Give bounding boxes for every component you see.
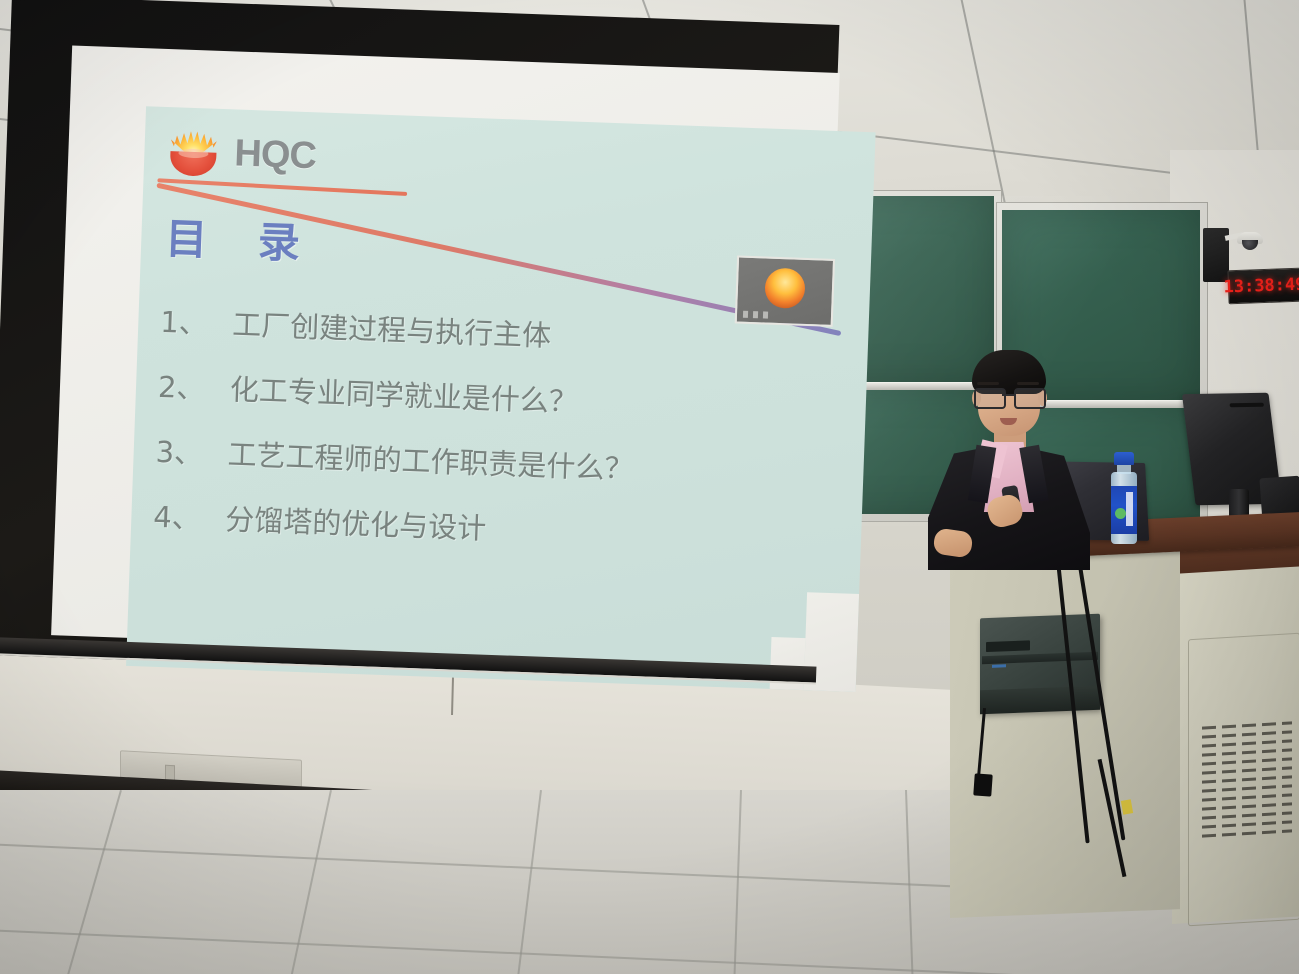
podium	[950, 528, 1299, 928]
screen-border: HQC 目 录 1、 工厂创建过程与执行主体	[0, 0, 839, 685]
bullet-number: 1、	[160, 299, 233, 344]
bullet-text: 工艺工程师的工作职责是什么？	[227, 431, 634, 487]
bullet-text: 分馏塔的优化与设计	[225, 496, 487, 547]
slide-title: 目 录	[164, 205, 319, 271]
lecture-hall-photo: 13:38:49	[0, 0, 1299, 974]
flame-thumbnail-icon	[735, 255, 835, 326]
list-item: 2、 化工专业同学就业是什么？	[157, 364, 636, 423]
bullet-number: 4、	[153, 494, 226, 539]
slide-bullet-list: 1、 工厂创建过程与执行主体 2、 化工专业同学就业是什么？ 3、 工艺工程师的…	[152, 299, 639, 576]
list-item: 1、 工厂创建过程与执行主体	[160, 299, 639, 358]
brand-name: HQC	[234, 132, 317, 178]
eyeglasses-icon	[974, 388, 1044, 405]
digital-clock: 13:38:49	[1227, 268, 1299, 305]
bullet-text: 工厂创建过程与执行主体	[232, 301, 552, 354]
presenter	[920, 338, 1100, 570]
av-control-box-icon[interactable]	[980, 614, 1100, 714]
list-item: 3、 工艺工程师的工作职责是什么？	[155, 429, 634, 488]
screen-surface: HQC 目 录 1、 工厂创建过程与执行主体	[51, 46, 840, 663]
presentation-slide: HQC 目 录 1、 工厂创建过程与执行主体	[126, 106, 876, 692]
clock-time: 13:38:49	[1223, 275, 1299, 298]
bullet-number: 2、	[157, 364, 230, 409]
water-bottle-icon	[1109, 452, 1139, 544]
bullet-number: 3、	[155, 429, 228, 474]
bullet-text: 化工专业同学就业是什么？	[229, 366, 578, 420]
podium-connector-icon	[973, 773, 992, 796]
podium-vent-grille	[1202, 721, 1292, 846]
dome-camera-icon	[1231, 232, 1261, 246]
slide-logo: HQC	[166, 125, 317, 182]
list-item: 4、 分馏塔的优化与设计	[153, 494, 632, 553]
petrochina-sunburst-icon	[166, 125, 222, 179]
projection-screen: SCREEN HQC 目 录	[0, 0, 872, 698]
